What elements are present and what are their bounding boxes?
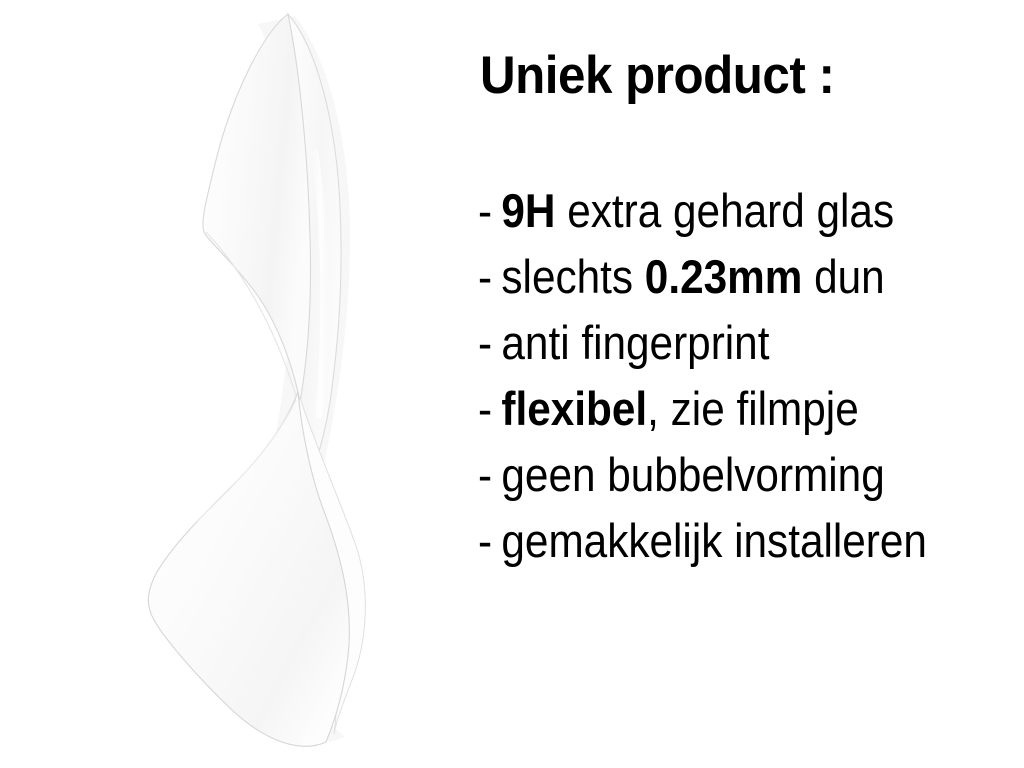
feature-highlight: 9H (501, 184, 555, 237)
page-title: Uniek product : (480, 48, 835, 104)
bullet-marker: - (478, 310, 501, 376)
list-item: -gemakkelijk installeren (478, 508, 982, 574)
feature-lead: geen bubbelvorming (501, 448, 884, 501)
list-item: -geen bubbelvorming (478, 442, 982, 508)
feature-text: dun (802, 250, 884, 303)
feature-list: -9H extra gehard glas -slechts 0.23mm du… (478, 178, 1024, 574)
feature-text: , zie filmpje (647, 382, 859, 435)
bullet-marker: - (478, 442, 501, 508)
list-item: -flexibel, zie filmpje (478, 376, 982, 442)
bullet-marker: - (478, 178, 501, 244)
promo-banner: Uniek product : -9H extra gehard glas -s… (0, 0, 1024, 768)
feature-highlight: flexibel (501, 382, 647, 435)
sheet-upper-front (203, 14, 311, 402)
feature-text: extra gehard glas (555, 184, 894, 237)
bullet-marker: - (478, 376, 501, 442)
list-item: -slechts 0.23mm dun (478, 244, 982, 310)
feature-lead: slechts (501, 250, 644, 303)
product-illustration (0, 0, 460, 768)
feature-highlight: 0.23mm (645, 250, 803, 303)
list-item: -9H extra gehard glas (478, 178, 982, 244)
list-item: -anti fingerprint (478, 310, 982, 376)
feature-lead: gemakkelijk installeren (501, 514, 927, 567)
copy-column: Uniek product : -9H extra gehard glas -s… (470, 0, 1024, 768)
bullet-marker: - (478, 508, 501, 574)
feature-lead: anti fingerprint (501, 316, 769, 369)
bullet-marker: - (478, 244, 501, 310)
